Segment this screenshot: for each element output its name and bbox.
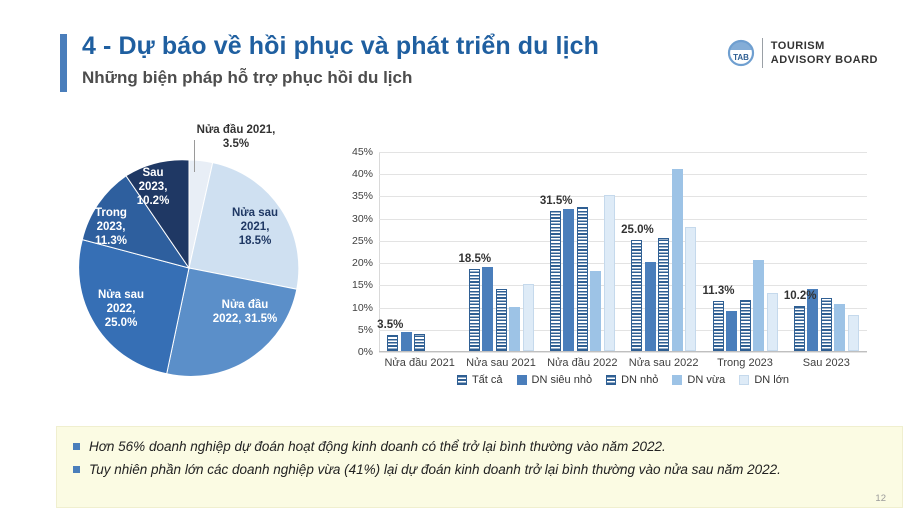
bar-dn-siêu-nhỏ: [401, 332, 412, 351]
bar-tất-cả: [550, 211, 561, 351]
bar-dn-vừa: [753, 260, 764, 351]
pie-label-nua-dau-2022: Nửa đầu2022, 31.5%: [196, 298, 294, 326]
y-axis-tick: 45%: [352, 146, 373, 158]
bar-group: [713, 151, 778, 351]
bar-data-label: 11.3%: [703, 285, 735, 297]
bullet-icon: [73, 443, 80, 450]
y-axis-tick: 10%: [352, 302, 373, 314]
legend-label: Tất cả: [472, 374, 503, 386]
bar-dn-vừa: [834, 304, 845, 351]
legend-item-dn-vừa[interactable]: DN vừa: [672, 374, 725, 386]
footnote-text-1: Hơn 56% doanh nghiệp dự đoán hoạt động k…: [89, 437, 666, 457]
y-axis-tick: 30%: [352, 213, 373, 225]
legend-swatch: [606, 375, 616, 385]
legend-swatch: [739, 375, 749, 385]
bar-data-label: 10.2%: [784, 290, 817, 302]
slide-header: 4 - Dự báo về hồi phục và phát triển du …: [60, 32, 760, 94]
bar-dn-siêu-nhỏ: [563, 209, 574, 351]
legend-label: DN siêu nhỏ: [532, 374, 593, 386]
bar-group: [631, 151, 696, 351]
x-axis-tick: Nửa sau 2021: [460, 357, 541, 369]
legend-swatch: [517, 375, 527, 385]
pie-label-trong-2023: Trong2023,11.3%: [78, 206, 144, 248]
logo-line-1: TOURISM: [771, 39, 878, 53]
bar-data-label: 31.5%: [540, 195, 573, 207]
bar-dn-siêu-nhỏ: [726, 311, 737, 351]
bar-dn-vừa: [509, 307, 520, 351]
y-axis-tick: 5%: [358, 324, 373, 336]
bar-group: [469, 151, 534, 351]
slide-left-margin: [0, 0, 22, 525]
bar-group: [794, 151, 859, 351]
legend-swatch: [672, 375, 682, 385]
bar-data-label: 3.5%: [377, 319, 403, 331]
brand-logo: TAB TOURISM ADVISORY BOARD: [727, 38, 878, 68]
bar-tất-cả: [469, 269, 480, 351]
legend-label: DN vừa: [687, 374, 725, 386]
legend-label: DN nhỏ: [621, 374, 658, 386]
grid-line: [379, 352, 867, 353]
logo-line-2: ADVISORY BOARD: [771, 53, 878, 67]
x-axis-tick: Sau 2023: [786, 357, 867, 369]
logo-divider: [762, 38, 763, 68]
bar-dn-nhỏ: [821, 298, 832, 351]
bar-dn-siêu-nhỏ: [482, 267, 493, 351]
x-axis-tick: Nửa đầu 2022: [542, 357, 623, 369]
legend-item-dn-lớn[interactable]: DN lớn: [739, 374, 789, 386]
bullet-icon: [73, 466, 80, 473]
bar-tất-cả: [387, 335, 398, 351]
footnote-text-2: Tuy nhiên phần lớn các doanh nghiệp vừa …: [89, 460, 781, 480]
svg-text:TAB: TAB: [733, 53, 749, 62]
bar-dn-vừa: [590, 271, 601, 351]
bar-dn-siêu-nhỏ: [645, 262, 656, 351]
y-axis-tick: 15%: [352, 279, 373, 291]
y-axis-tick: 20%: [352, 257, 373, 269]
y-axis-tick: 0%: [358, 346, 373, 358]
bar-data-label: 18.5%: [459, 253, 492, 265]
legend-item-tất-cả[interactable]: Tất cả: [457, 374, 503, 386]
x-axis-tick: Nửa sau 2022: [623, 357, 704, 369]
bar-tất-cả: [713, 301, 724, 351]
footnote-item-1: Hơn 56% doanh nghiệp dự đoán hoạt động k…: [73, 437, 888, 457]
y-axis-tick: 25%: [352, 235, 373, 247]
y-axis-tick: 40%: [352, 168, 373, 180]
header-accent-bar: [60, 34, 67, 92]
bar-chart: 0%5%10%15%20%25%30%35%40%45%Nửa đầu 2021…: [327, 136, 892, 401]
bar-legend: Tất cảDN siêu nhỏDN nhỏDN vừaDN lớn: [379, 374, 867, 386]
legend-item-dn-siêu-nhỏ[interactable]: DN siêu nhỏ: [517, 374, 593, 386]
page-title: 4 - Dự báo về hồi phục và phát triển du …: [82, 32, 599, 61]
tab-logo-icon: TAB: [727, 39, 755, 67]
bar-tất-cả: [794, 306, 805, 351]
pie-label-nua-sau-2021: Nửa sau2021,18.5%: [216, 206, 294, 248]
footnote-item-2: Tuy nhiên phần lớn các doanh nghiệp vừa …: [73, 460, 888, 480]
bar-dn-lớn: [767, 293, 778, 351]
y-axis-tick: 35%: [352, 190, 373, 202]
pie-label-nua-dau-2021: Nửa đầu 2021,3.5%: [171, 123, 301, 151]
bar-tất-cả: [631, 240, 642, 351]
page-subtitle: Những biện pháp hỗ trợ phục hồi du lịch: [82, 68, 412, 88]
x-axis-tick: Trong 2023: [704, 357, 785, 369]
footnote-box: Hơn 56% doanh nghiệp dự đoán hoạt động k…: [56, 426, 903, 508]
pie-label-nua-sau-2022: Nửa sau2022,25.0%: [80, 288, 162, 330]
bar-dn-nhỏ: [577, 207, 588, 351]
pie-chart: Nửa đầu 2021,3.5% Nửa sau2021,18.5% Nửa …: [56, 128, 346, 378]
bar-dn-lớn: [604, 195, 615, 351]
bar-dn-lớn: [685, 227, 696, 351]
bar-dn-nhỏ: [414, 334, 425, 351]
legend-label: DN lớn: [754, 374, 789, 386]
pie-graphic: [74, 150, 304, 380]
bar-dn-lớn: [848, 315, 859, 351]
legend-swatch: [457, 375, 467, 385]
bar-data-label: 25.0%: [621, 224, 654, 236]
bar-dn-nhỏ: [740, 300, 751, 351]
slide-canvas: 4 - Dự báo về hồi phục và phát triển du …: [22, 8, 902, 508]
slide: 4 - Dự báo về hồi phục và phát triển du …: [0, 0, 924, 525]
pie-label-sau-2023: Sau2023,10.2%: [124, 166, 182, 208]
logo-wordmark: TOURISM ADVISORY BOARD: [771, 39, 878, 67]
bar-plot-area: 0%5%10%15%20%25%30%35%40%45%Nửa đầu 2021…: [379, 152, 867, 352]
x-axis-tick: Nửa đầu 2021: [379, 357, 460, 369]
bar-dn-vừa: [672, 169, 683, 351]
bar-dn-nhỏ: [496, 289, 507, 351]
legend-item-dn-nhỏ[interactable]: DN nhỏ: [606, 374, 658, 386]
page-number: 12: [875, 493, 886, 504]
slide-bottom-margin: [0, 511, 924, 525]
bar-group: [550, 151, 615, 351]
bar-dn-nhỏ: [658, 238, 669, 351]
bar-dn-lớn: [523, 284, 534, 351]
